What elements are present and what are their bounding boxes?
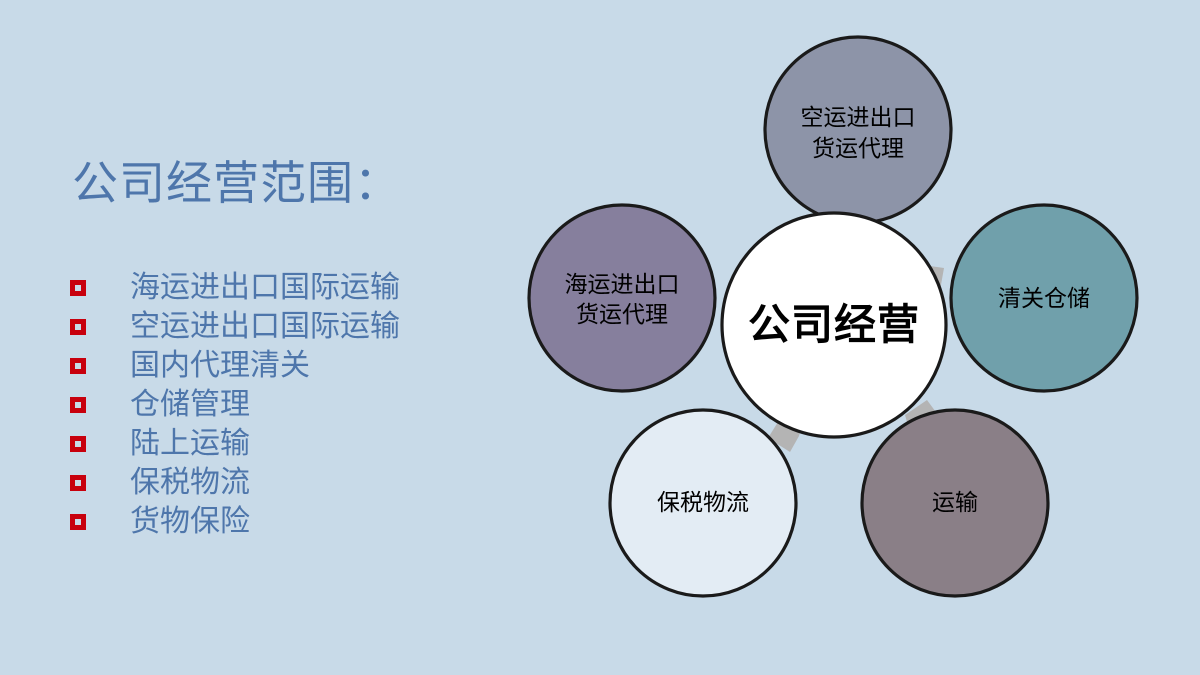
slide-canvas: 公司经营范围： 海运进出口国际运输 空运进出口国际运输 国内代理清关 仓储管理 … bbox=[0, 0, 1200, 675]
list-item-label: 陆上运输 bbox=[130, 429, 250, 459]
node-label-line2: 货运代理 bbox=[576, 301, 668, 327]
square-bullet-icon bbox=[70, 319, 86, 335]
list-item-label: 国内代理清关 bbox=[130, 351, 310, 381]
list-item: 仓储管理 bbox=[70, 385, 500, 424]
square-bullet-icon bbox=[70, 280, 86, 296]
node-label-line1: 空运进出口 bbox=[801, 104, 916, 130]
list-item: 国内代理清关 bbox=[70, 346, 500, 385]
node-circle[interactable] bbox=[529, 205, 715, 391]
node-label-line1: 保税物流 bbox=[657, 489, 749, 515]
square-bullet-icon bbox=[70, 514, 86, 530]
node-customs-warehousing[interactable]: 清关仓储 bbox=[951, 205, 1137, 391]
list-item: 保税物流 bbox=[70, 463, 500, 502]
list-item: 海运进出口国际运输 bbox=[70, 268, 500, 307]
list-item-label: 海运进出口国际运输 bbox=[130, 273, 400, 303]
list-item-label: 保税物流 bbox=[130, 468, 250, 498]
node-label-line1: 清关仓储 bbox=[998, 285, 1090, 311]
radial-hub-diagram: 空运进出口 货运代理 清关仓储 运输 保税物流 海运进出口 bbox=[510, 0, 1200, 675]
list-item-label: 货物保险 bbox=[130, 507, 250, 537]
node-bonded-logistics[interactable]: 保税物流 bbox=[610, 410, 796, 596]
list-item: 空运进出口国际运输 bbox=[70, 307, 500, 346]
list-item-label: 空运进出口国际运输 bbox=[130, 312, 400, 342]
page-title: 公司经营范围： bbox=[72, 158, 401, 211]
center-label: 公司经营 bbox=[748, 301, 920, 348]
node-label-line1: 海运进出口 bbox=[565, 271, 680, 297]
scope-bullet-list: 海运进出口国际运输 空运进出口国际运输 国内代理清关 仓储管理 陆上运输 保税物… bbox=[70, 268, 500, 541]
list-item: 陆上运输 bbox=[70, 424, 500, 463]
node-label-line2: 货运代理 bbox=[812, 135, 904, 161]
square-bullet-icon bbox=[70, 436, 86, 452]
list-item: 货物保险 bbox=[70, 502, 500, 541]
node-sea-freight[interactable]: 海运进出口 货运代理 bbox=[529, 205, 715, 391]
node-air-freight[interactable]: 空运进出口 货运代理 bbox=[765, 37, 951, 223]
node-label-line1: 运输 bbox=[932, 489, 978, 515]
square-bullet-icon bbox=[70, 475, 86, 491]
node-transport[interactable]: 运输 bbox=[862, 410, 1048, 596]
list-item-label: 仓储管理 bbox=[130, 390, 250, 420]
node-center-hub[interactable]: 公司经营 bbox=[722, 213, 946, 437]
square-bullet-icon bbox=[70, 358, 86, 374]
left-content-panel: 公司经营范围： 海运进出口国际运输 空运进出口国际运输 国内代理清关 仓储管理 … bbox=[0, 0, 520, 675]
square-bullet-icon bbox=[70, 397, 86, 413]
